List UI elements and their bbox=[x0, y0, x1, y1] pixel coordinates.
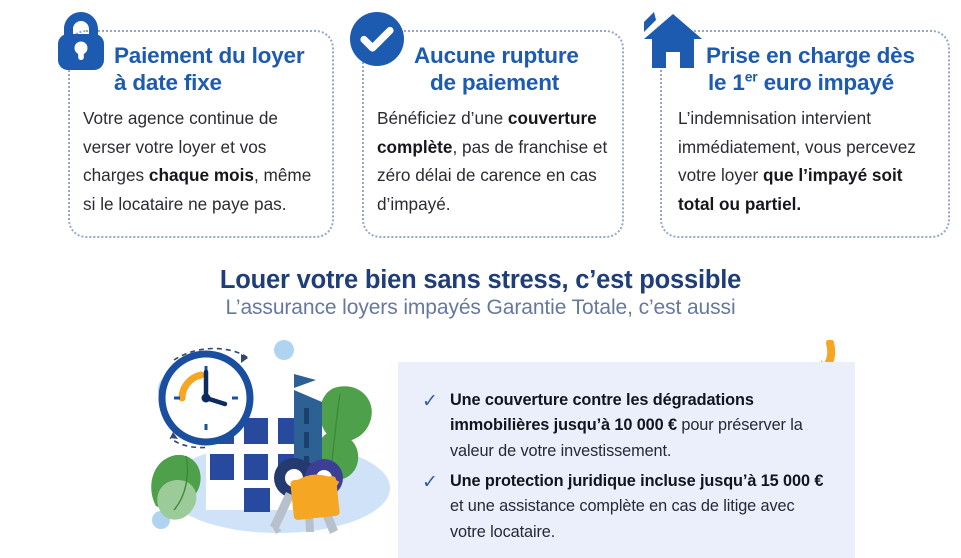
infographic-page: Paiement du loyer à date fixe Votre agen… bbox=[0, 0, 961, 558]
bullet-rest: et une assistance complète en cas de lit… bbox=[450, 497, 795, 540]
card-body: Bénéficiez d’une couverture complète, pa… bbox=[377, 104, 612, 218]
card-title-line2: de paiement bbox=[414, 69, 619, 96]
bullet-text: Une couverture contre les dégradations i… bbox=[450, 388, 830, 464]
card-title-line2-b: euro impayé bbox=[758, 70, 894, 95]
card-title: Prise en charge dès le 1er euro impayé bbox=[706, 42, 956, 96]
card-body: L’indemnisation intervient immédiatement… bbox=[678, 104, 938, 218]
benefits-panel: ✓ Une couverture contre les dégradations… bbox=[398, 362, 855, 558]
card-title-line2-a: le 1 bbox=[708, 70, 745, 95]
list-item: ✓ Une protection juridique incluse jusqu… bbox=[422, 469, 830, 545]
check-circle-icon bbox=[348, 10, 406, 73]
feature-card-aucune-rupture: Aucune rupture de paiement Bénéficiez d’… bbox=[362, 30, 624, 238]
card-title-line2: à date fixe bbox=[114, 69, 334, 96]
card-title-line2: le 1er euro impayé bbox=[706, 69, 956, 96]
card-title-line1: Prise en charge dès bbox=[706, 43, 915, 68]
check-mark-icon: ✓ bbox=[422, 388, 450, 464]
feature-card-paiement-loyer: Paiement du loyer à date fixe Votre agen… bbox=[68, 30, 334, 238]
subheadline: L’assurance loyers impayés Garantie Tota… bbox=[0, 296, 961, 320]
card-body-pre: Bénéficiez d’une bbox=[377, 108, 508, 128]
ordinal-suffix: er bbox=[745, 69, 758, 85]
card-title: Paiement du loyer à date fixe bbox=[114, 42, 334, 96]
house-icon bbox=[640, 10, 706, 77]
check-mark-icon: ✓ bbox=[422, 469, 450, 545]
headline: Louer votre bien sans stress, c’est poss… bbox=[0, 266, 961, 295]
card-title: Aucune rupture de paiement bbox=[414, 42, 619, 96]
bullet-highlight: Une protection juridique incluse jusqu’à… bbox=[450, 472, 823, 490]
feature-cards-row: Paiement du loyer à date fixe Votre agen… bbox=[0, 0, 961, 252]
card-title-line1: Paiement du loyer bbox=[114, 43, 304, 68]
building-clock-keys-illustration bbox=[128, 338, 390, 553]
bullet-text: Une protection juridique incluse jusqu’à… bbox=[450, 469, 830, 545]
card-body: Votre agence continue de verser votre lo… bbox=[83, 104, 322, 218]
padlock-icon bbox=[54, 10, 108, 77]
feature-card-prise-en-charge: Prise en charge dès le 1er euro impayé L… bbox=[660, 30, 950, 238]
card-title-line1: Aucune rupture bbox=[414, 43, 579, 68]
list-item: ✓ Une couverture contre les dégradations… bbox=[422, 388, 830, 464]
card-body-highlight: chaque mois bbox=[149, 165, 254, 185]
